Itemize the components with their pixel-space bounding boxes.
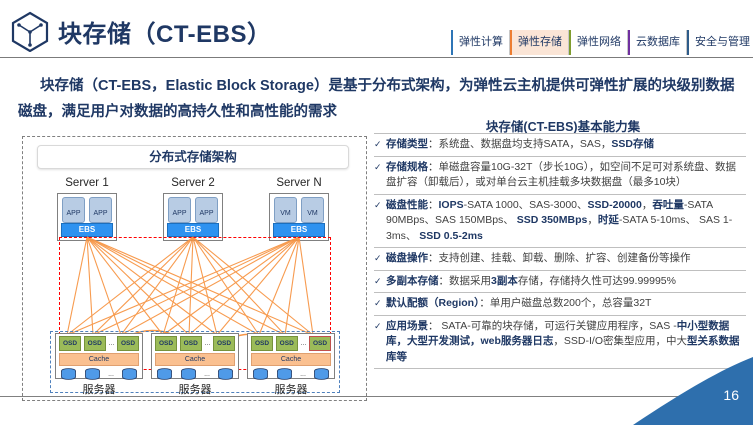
cache-layer: Cache — [251, 353, 331, 366]
check-icon: ✓ — [374, 319, 386, 366]
osd-unit: OSD — [213, 336, 235, 351]
page-number: 16 — [723, 387, 739, 403]
disk-icon — [121, 368, 138, 381]
storage-node-label: 服务器 — [247, 381, 335, 397]
capability-text: 多副本存储：数据采用3副本存储，存储持久性可达99.99995% — [386, 274, 746, 290]
nav-tab-security-management[interactable]: 安全与管理 — [687, 30, 753, 55]
cube-hexagon-icon — [8, 10, 52, 52]
ellipsis: ... — [300, 368, 306, 381]
nav-tab-elastic-network[interactable]: 弹性网络 — [569, 30, 628, 55]
check-icon: ✓ — [374, 137, 386, 153]
ellipsis: ... — [204, 337, 210, 350]
disk-icon — [60, 368, 77, 381]
nav-tab-elastic-compute[interactable]: 弹性计算 — [451, 30, 510, 55]
disk-row: ... — [248, 366, 334, 381]
disk-icon — [313, 368, 330, 381]
storage-node-label: 服务器 — [55, 381, 143, 397]
check-icon: ✓ — [374, 198, 386, 245]
capability-item-storage-spec: ✓ 存储规格：单磁盘容量10G-32T（步长10G），如空间不足可对系统盘、数据… — [374, 156, 746, 194]
storage-node: OSD OSD ... OSD Cache ... — [151, 333, 239, 379]
capability-text: 存储类型：系统盘、数据盘均支持SATA，SAS，SSD存储 — [386, 137, 746, 153]
osd-unit: OSD — [84, 336, 106, 351]
ellipsis: ... — [108, 368, 114, 381]
nav-tab-elastic-storage[interactable]: 弹性存储 — [510, 30, 569, 55]
header-divider — [0, 57, 753, 58]
cache-layer: Cache — [155, 353, 235, 366]
ellipsis: ... — [300, 337, 306, 350]
page-title: 块存储（CT-EBS） — [58, 14, 272, 49]
capability-text: 存储规格：单磁盘容量10G-32T（步长10G），如空间不足可对系统盘、数据盘扩… — [386, 160, 746, 191]
osd-row: OSD OSD ... OSD — [152, 334, 238, 351]
architecture-diagram: 分布式存储架构 Server 1 APP APP EBS Server 2 AP… — [22, 136, 367, 401]
capability-item-storage-type: ✓ 存储类型：系统盘、数据盘均支持SATA，SAS，SSD存储 — [374, 133, 746, 156]
nav-tabs[interactable]: 弹性计算 弹性存储 弹性网络 云数据库 安全与管理 — [451, 30, 753, 55]
ellipsis: ... — [108, 337, 114, 350]
ellipsis: ... — [204, 368, 210, 381]
capability-item-replication: ✓ 多副本存储：数据采用3副本存储，存储持久性可达99.99995% — [374, 270, 746, 293]
capability-list: ✓ 存储类型：系统盘、数据盘均支持SATA，SAS，SSD存储 ✓ 存储规格：单… — [374, 133, 746, 369]
storage-node: OSD OSD ... OSD Cache ... — [55, 333, 143, 379]
capability-text: 默认配额（Region）：单用户磁盘总数200个，总容量32T — [386, 296, 746, 312]
osd-unit: OSD — [155, 336, 177, 351]
disk-row: ... — [56, 366, 142, 381]
check-icon: ✓ — [374, 160, 386, 191]
nav-tab-cloud-database[interactable]: 云数据库 — [628, 30, 687, 55]
osd-unit-highlighted: OSD — [309, 336, 331, 351]
disk-icon — [252, 368, 269, 381]
osd-row: OSD OSD ... OSD — [56, 334, 142, 351]
footer-divider — [0, 396, 720, 397]
capability-item-default-quota: ✓ 默认配额（Region）：单用户磁盘总数200个，总容量32T — [374, 292, 746, 315]
osd-row: OSD OSD ... OSD — [248, 334, 334, 351]
check-icon: ✓ — [374, 251, 386, 267]
page-header: 块存储（CT-EBS） 弹性计算 弹性存储 弹性网络 云数据库 安全与管理 — [0, 0, 753, 58]
capability-item-disk-operations: ✓ 磁盘操作：支持创建、挂载、卸载、删除、扩容、创建备份等操作 — [374, 247, 746, 270]
disk-row: ... — [152, 366, 238, 381]
disk-icon — [156, 368, 173, 381]
capability-item-disk-performance: ✓ 磁盘性能：IOPS-SATA 1000、SAS-3000、SSD-20000… — [374, 194, 746, 248]
check-icon: ✓ — [374, 296, 386, 312]
check-icon: ✓ — [374, 274, 386, 290]
osd-unit: OSD — [251, 336, 273, 351]
capability-text: 磁盘操作：支持创建、挂载、卸载、删除、扩容、创建备份等操作 — [386, 251, 746, 267]
disk-icon — [180, 368, 197, 381]
disk-icon — [276, 368, 293, 381]
osd-unit: OSD — [276, 336, 298, 351]
osd-unit: OSD — [59, 336, 81, 351]
osd-unit: OSD — [180, 336, 202, 351]
storage-node: OSD OSD ... OSD Cache ... — [247, 333, 335, 379]
cache-layer: Cache — [59, 353, 139, 366]
osd-unit: OSD — [117, 336, 139, 351]
disk-icon — [84, 368, 101, 381]
capability-text: 磁盘性能：IOPS-SATA 1000、SAS-3000、SSD-20000，吞… — [386, 198, 746, 245]
disk-icon — [217, 368, 234, 381]
storage-node-label: 服务器 — [151, 381, 239, 397]
